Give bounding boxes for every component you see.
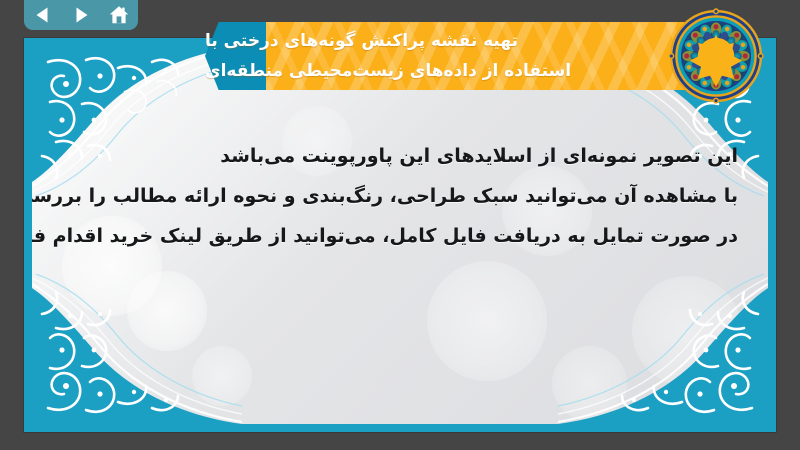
slide-body-text: این تصویر نمونه‌ای از اسلایدهای این پاور… bbox=[72, 136, 738, 256]
slide-frame: این تصویر نمونه‌ای از اسلایدهای این پاور… bbox=[24, 38, 776, 432]
slide-title-banner: تهیه نقشه پراکنش گونه‌های درختی با استفا… bbox=[205, 22, 725, 90]
home-icon bbox=[108, 4, 130, 26]
slide-canvas: این تصویر نمونه‌ای از اسلایدهای این پاور… bbox=[32, 46, 768, 424]
slide-title: تهیه نقشه پراکنش گونه‌های درختی با استفا… bbox=[205, 22, 717, 90]
body-line-3: در صورت تمایل به دریافت فایل کامل، می‌تو… bbox=[72, 216, 738, 256]
bokeh-circle bbox=[192, 346, 252, 406]
home-button[interactable] bbox=[106, 2, 132, 28]
body-line-2: با مشاهده آن می‌توانید سبک طراحی، رنگ‌بن… bbox=[72, 176, 738, 216]
body-line-1: این تصویر نمونه‌ای از اسلایدهای این پاور… bbox=[72, 136, 738, 176]
title-line-1: تهیه نقشه پراکنش گونه‌های درختی با bbox=[205, 26, 524, 56]
slide-viewer: این تصویر نمونه‌ای از اسلایدهای این پاور… bbox=[0, 0, 800, 450]
bokeh-circle bbox=[552, 346, 627, 421]
bokeh-circle bbox=[127, 271, 207, 351]
title-line-2: استفاده از داده‌های زیست‌محیطی منطقه‌ای bbox=[205, 56, 577, 86]
navigation-panel[interactable] bbox=[24, 0, 138, 30]
triangle-left-icon bbox=[33, 5, 53, 25]
bokeh-circle bbox=[427, 261, 547, 381]
persian-medallion-ornament bbox=[668, 8, 764, 104]
bokeh-circle bbox=[632, 276, 742, 386]
back-button[interactable] bbox=[30, 2, 56, 28]
forward-button[interactable] bbox=[68, 2, 94, 28]
triangle-right-icon bbox=[71, 5, 91, 25]
